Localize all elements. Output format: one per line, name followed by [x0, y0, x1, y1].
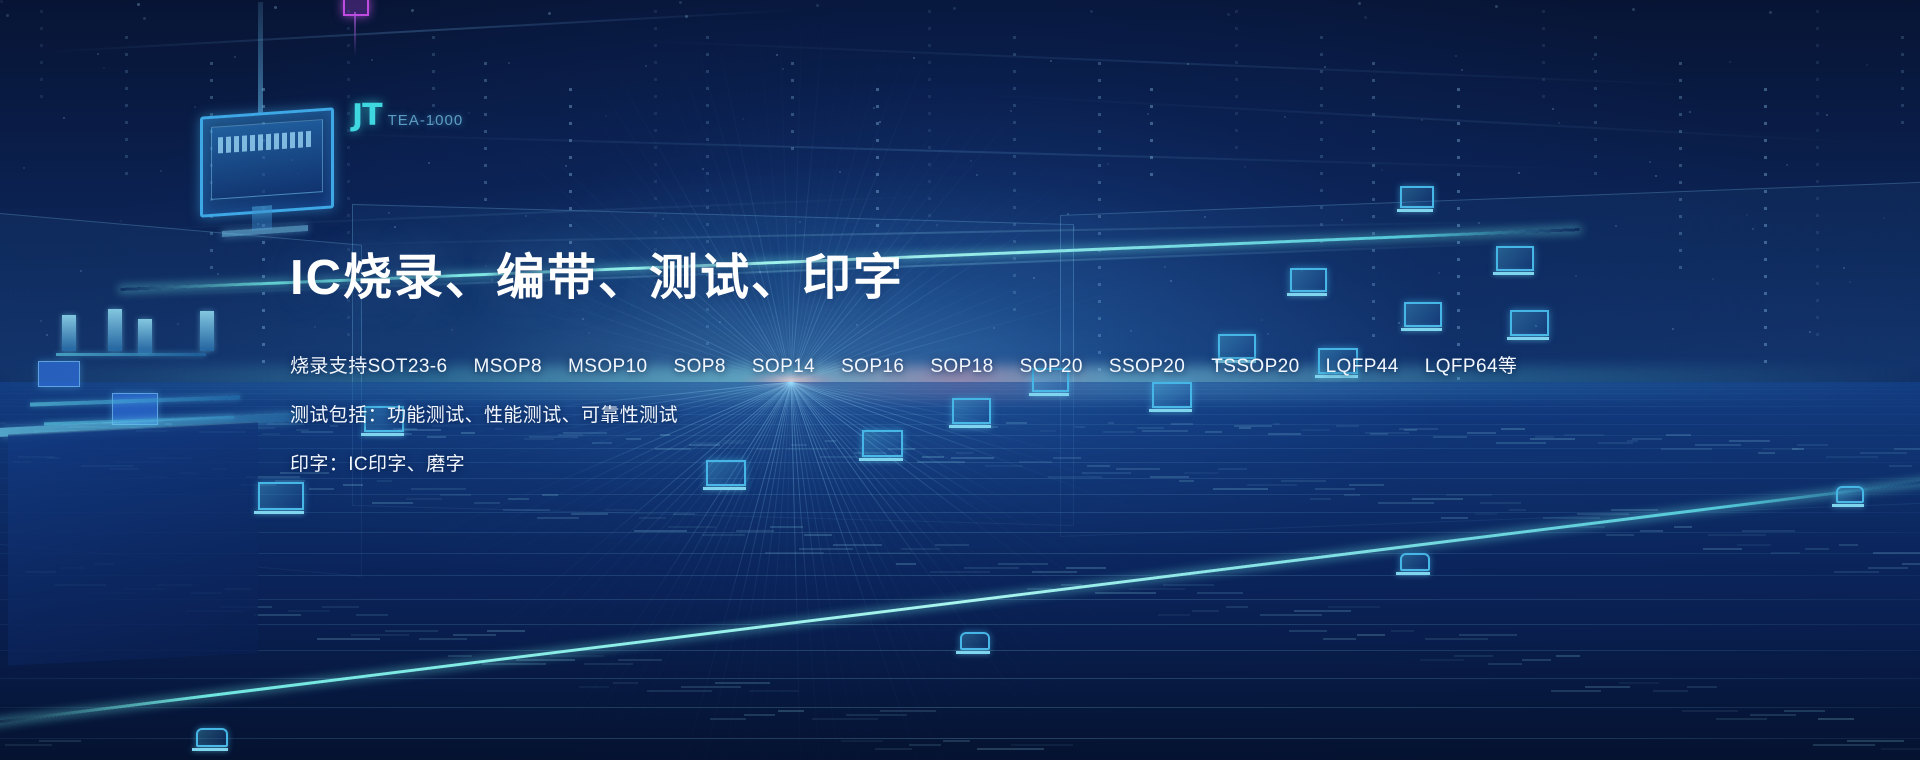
package-spec-item: LQFP64等: [1425, 351, 1518, 378]
monitor-screen: [200, 107, 334, 217]
package-spec-item: SOP16: [841, 356, 904, 378]
agv-robot-icon: [1836, 486, 1864, 507]
page-title: IC烧录、编带、测试、印字: [290, 252, 1530, 306]
spec-lead-label: 烧录支持SOT23-6: [290, 351, 448, 378]
logo-brand-text: JT: [352, 98, 382, 133]
package-spec-item: SOP8: [674, 356, 726, 378]
monitor-bar-graph: [218, 131, 311, 154]
hero-text-block: IC烧录、编带、测试、印字 烧录支持SOT23-6 MSOP8MSOP10SOP…: [290, 252, 1530, 476]
package-spec-item: SOP14: [752, 356, 815, 378]
brand-logo: JT TEA-1000: [352, 98, 463, 133]
package-spec-item: SOP18: [930, 356, 993, 378]
supported-package-list: 烧录支持SOT23-6 MSOP8MSOP10SOP8SOP14SOP16SOP…: [290, 351, 1530, 378]
package-spec-item: MSOP10: [568, 356, 648, 378]
testing-description: 测试包括：功能测试、性能测试、可靠性测试: [290, 400, 1530, 427]
monitor-support-pole: [258, 2, 263, 114]
floating-device-icon: [1400, 186, 1434, 212]
package-spec-item: MSOP8: [474, 356, 543, 378]
logo-model-text: TEA-1000: [388, 112, 464, 129]
hero-banner: JT TEA-1000: [0, 0, 1920, 760]
status-indicator-icon: [343, 0, 369, 16]
package-spec-item: TSSOP20: [1211, 356, 1299, 378]
equipment-cabinet: [8, 421, 258, 665]
agv-robot-icon: [960, 632, 990, 654]
monitor-display-area: [211, 119, 323, 200]
agv-robot-icon: [196, 728, 228, 751]
package-spec-item: LQFP44: [1326, 356, 1399, 378]
marking-description: 印字：IC印字、磨字: [290, 449, 1530, 476]
package-spec-item: SSOP20: [1109, 356, 1185, 378]
agv-robot-icon: [1400, 553, 1430, 575]
package-spec-item: SOP20: [1020, 356, 1083, 378]
floating-device-icon: [258, 482, 304, 514]
